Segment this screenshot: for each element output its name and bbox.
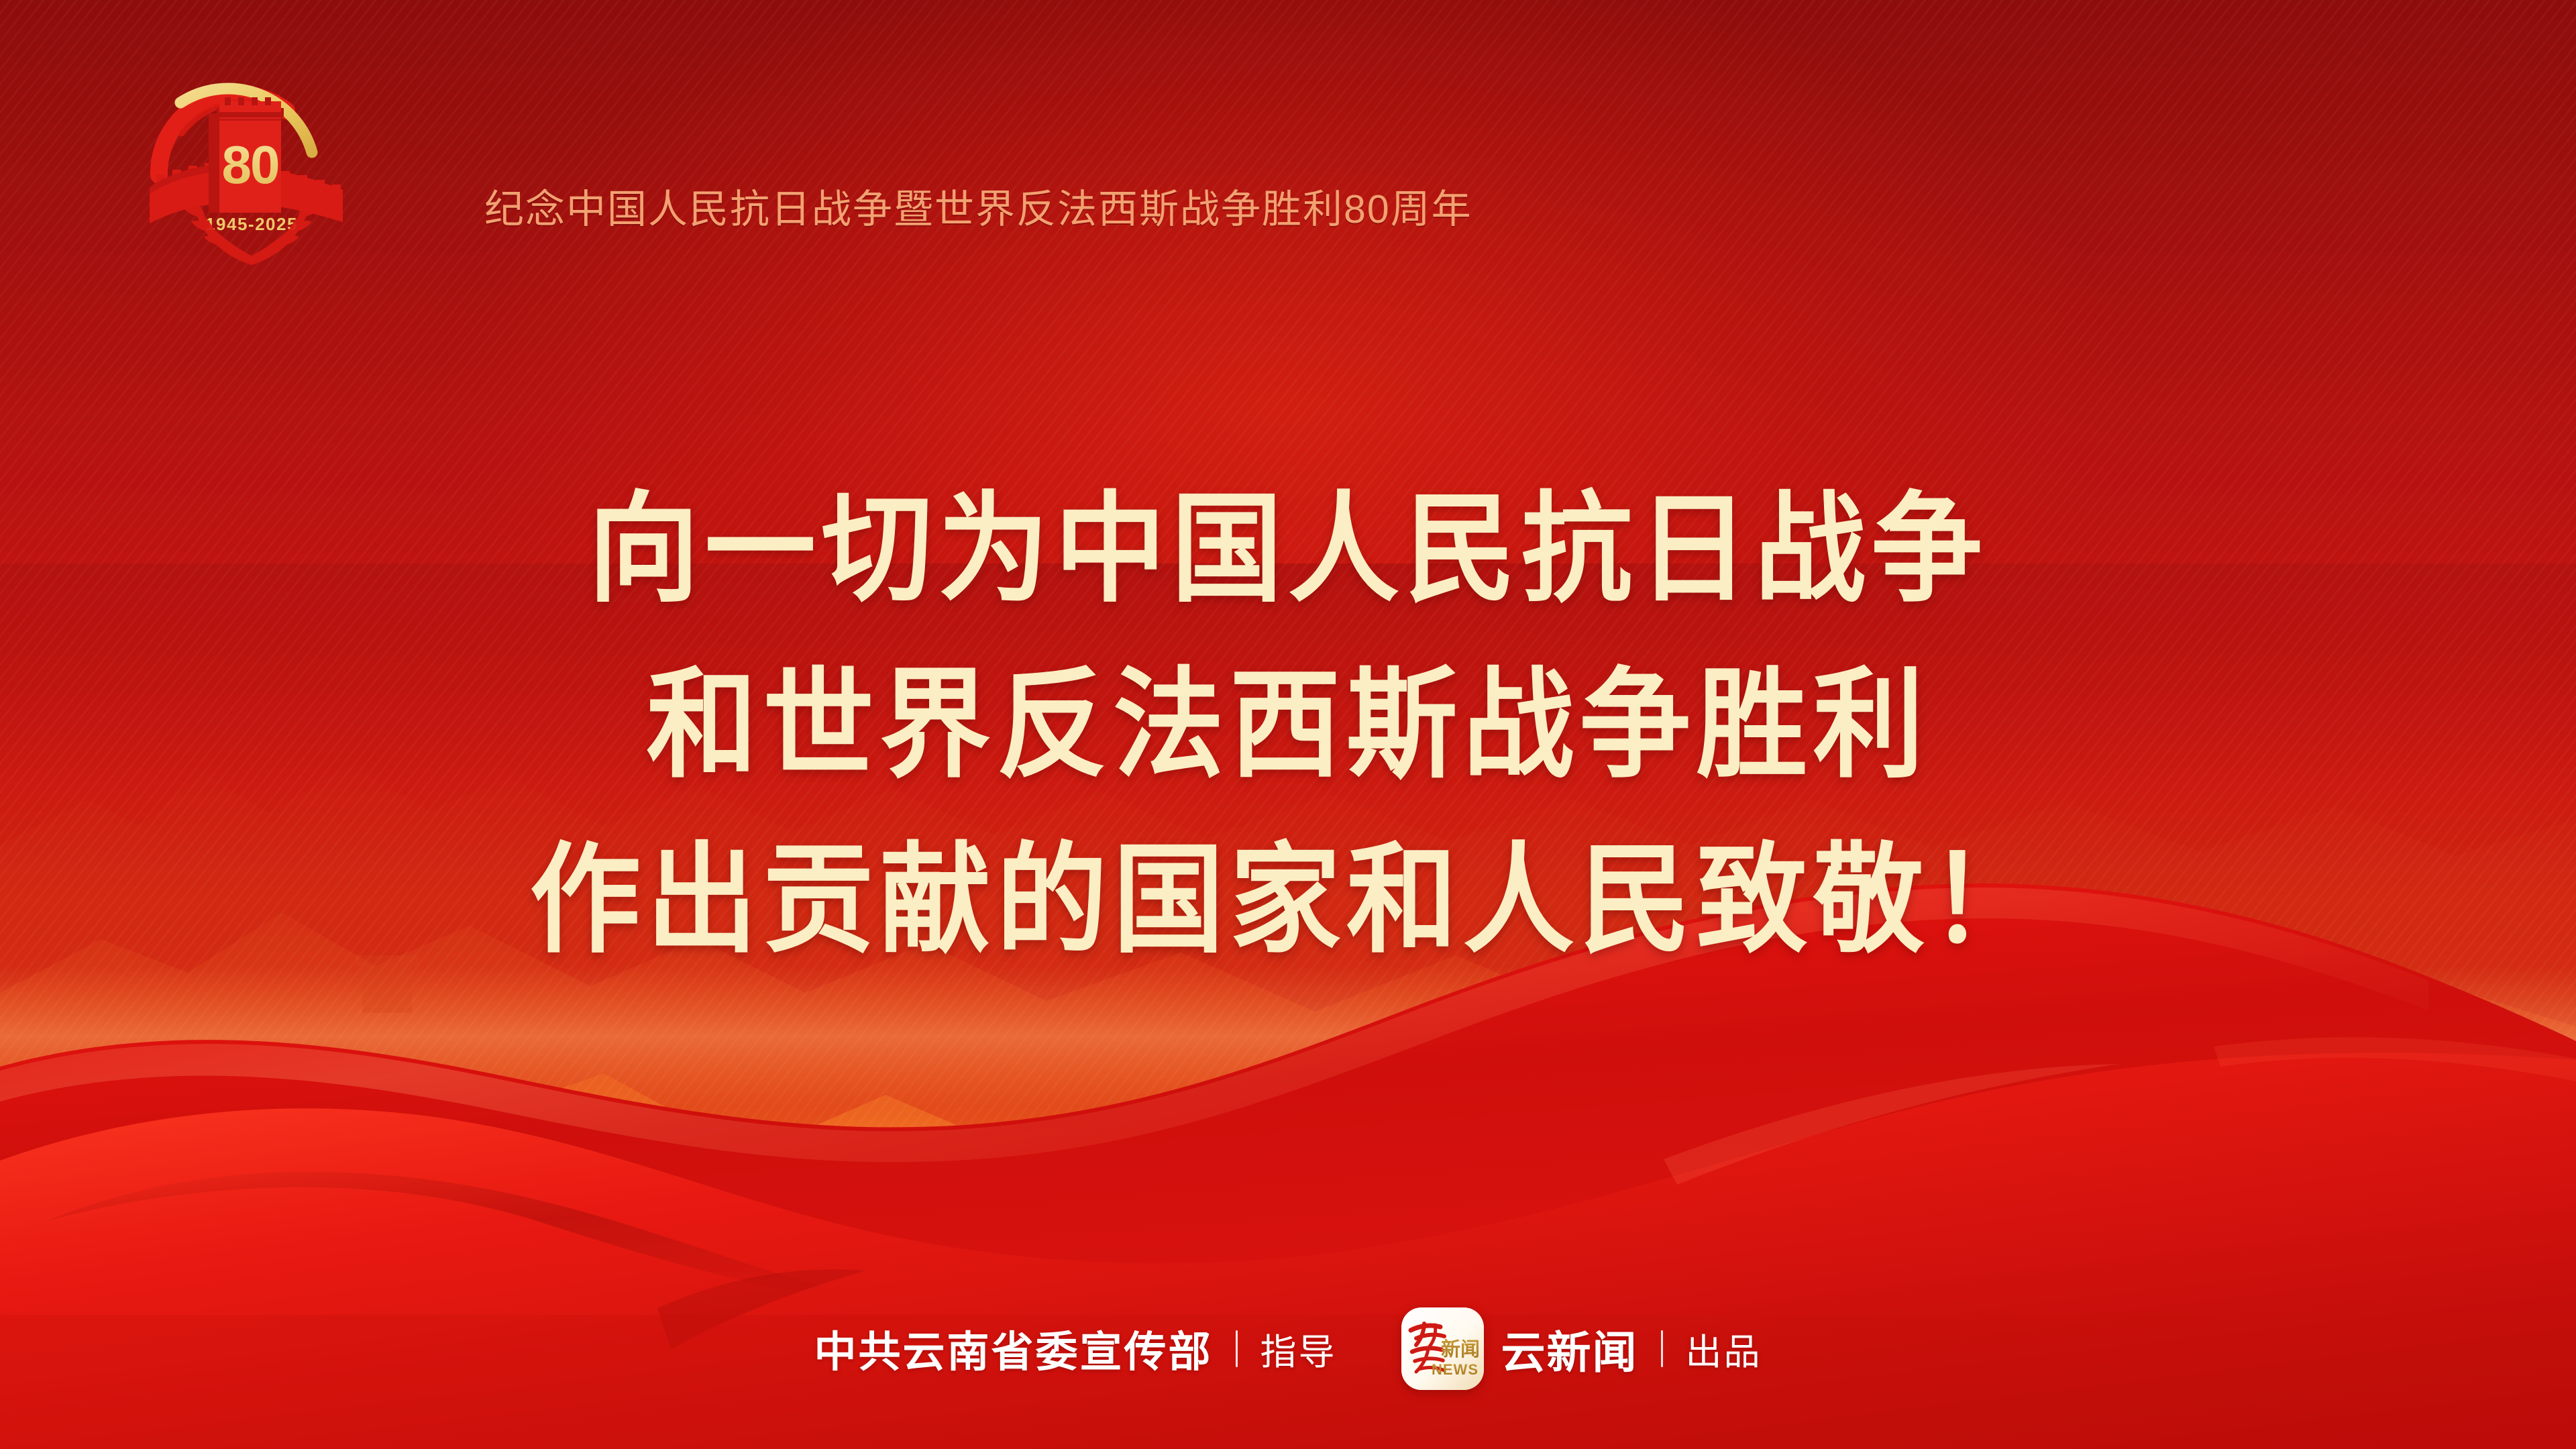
anniversary-header-title: 纪念中国人民抗日战争暨世界反法西斯战争胜利80周年 [484, 190, 1472, 229]
headline-line-2: 和世界反法西斯战争胜利 [90, 639, 2485, 814]
footer-credits: 中共云南省委宣传部 指导 [0, 1307, 2576, 1390]
yunnan-news-logo-icon: 新闻 NEWS [1401, 1307, 1484, 1390]
footer-organization: 中共云南省委宣传部 [814, 1318, 1213, 1379]
emblem-years: 1945-2025 [205, 214, 298, 234]
main-headline: 向一切为中国人民抗日战争 和世界反法西斯战争胜利 作出贡献的国家和人民致敬！ [0, 463, 2576, 989]
footer-separator-1 [1236, 1330, 1238, 1367]
footer-brand-name: 云新闻 [1501, 1317, 1638, 1381]
footer-separator-2 [1661, 1330, 1663, 1367]
footer-brand-role: 出品 [1686, 1322, 1762, 1375]
headline-line-3: 作出贡献的国家和人民致敬！ [90, 814, 2485, 989]
footer-organization-role: 指导 [1260, 1322, 1337, 1375]
headline-line-1: 向一切为中国人民抗日战争 [90, 463, 2485, 639]
emblem-number: 80 [222, 135, 279, 195]
logo-sub-label: 新闻 [1440, 1338, 1479, 1360]
logo-latin-label: NEWS [1432, 1361, 1479, 1378]
80th-anniversary-emblem: 80 1945-2025 [138, 44, 366, 272]
poster-canvas: 80 1945-2025 [0, 0, 2576, 1449]
